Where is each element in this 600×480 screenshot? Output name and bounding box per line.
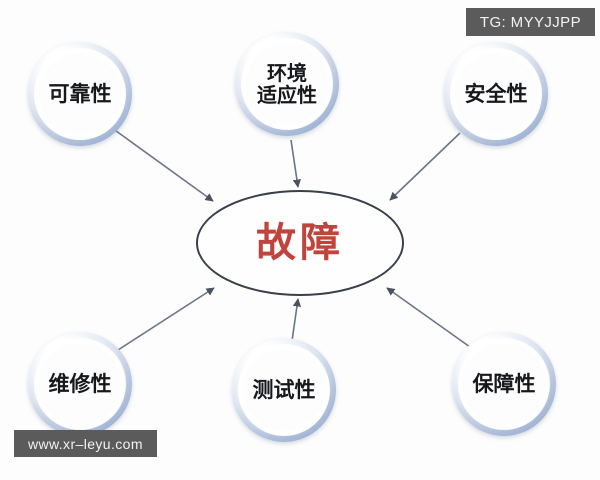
center-node-fault[interactable]: 故障	[196, 190, 404, 296]
node-testability[interactable]: 测试性	[232, 338, 336, 442]
tg-badge-text: TG: MYYJJPP	[480, 14, 581, 31]
connector-supportability-to-center	[387, 288, 470, 347]
site-watermark-text: www.xr–leyu.com	[28, 436, 143, 452]
node-maintainability-label: 维修性	[49, 373, 112, 396]
node-safety[interactable]: 安全性	[444, 42, 548, 146]
connector-safety-to-center	[390, 133, 460, 200]
center-node-label: 故障	[256, 223, 344, 263]
connector-maintainability-to-center	[118, 288, 214, 350]
site-watermark: www.xr–leyu.com	[14, 430, 157, 457]
node-reliability[interactable]: 可靠性	[28, 42, 132, 146]
connector-reliability-to-center	[112, 128, 213, 201]
connector-testability-to-center	[292, 299, 298, 341]
diagram-canvas: 可靠性 环境 适应性 安全性 维修性 测试性 保障性 故障 TG: MYYJJP…	[0, 0, 600, 480]
node-environment[interactable]: 环境 适应性	[235, 32, 339, 136]
node-supportability[interactable]: 保障性	[452, 332, 556, 436]
node-environment-label: 环境 适应性	[257, 62, 317, 107]
node-testability-label: 测试性	[253, 379, 316, 402]
node-reliability-label: 可靠性	[49, 83, 112, 106]
tg-badge: TG: MYYJJPP	[466, 8, 595, 36]
node-supportability-label: 保障性	[473, 373, 536, 396]
node-maintainability[interactable]: 维修性	[28, 332, 132, 436]
node-safety-label: 安全性	[465, 83, 528, 106]
connector-environment-to-center	[291, 140, 298, 187]
